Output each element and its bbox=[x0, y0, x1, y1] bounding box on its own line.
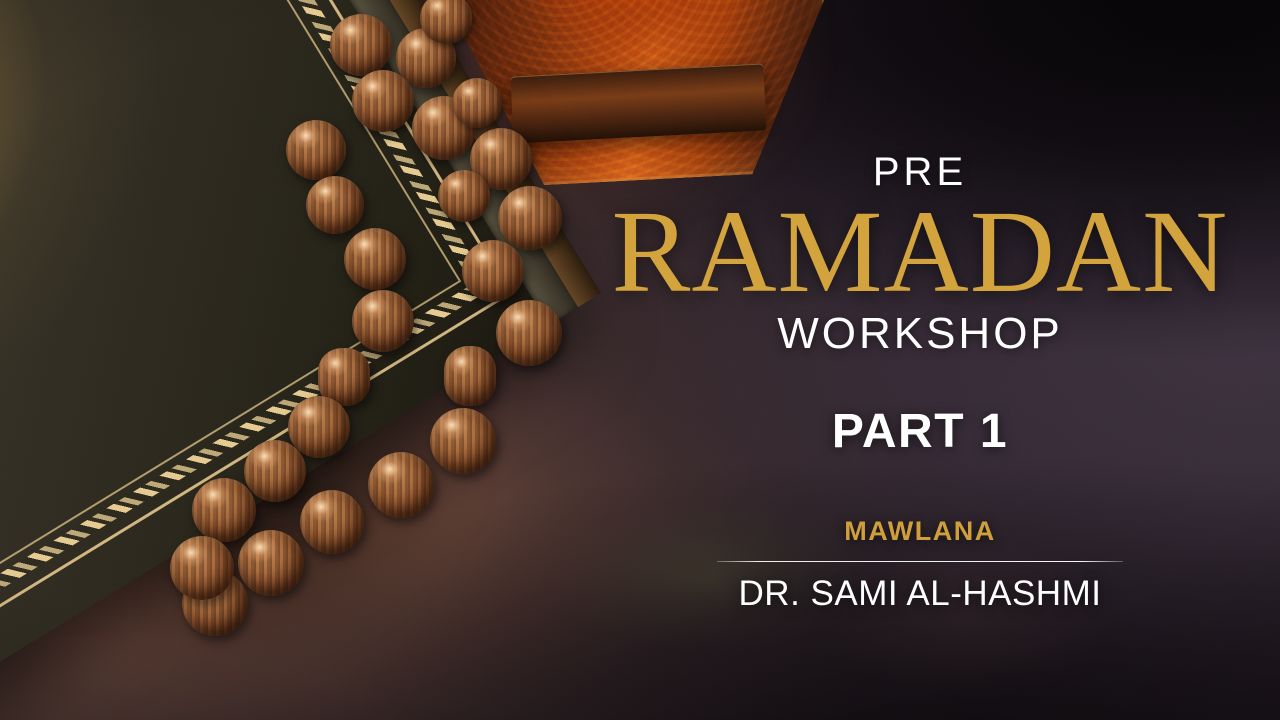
speaker-divider bbox=[717, 561, 1123, 562]
speaker-name: DR. SAMI AL-HASHMI bbox=[590, 576, 1250, 611]
poster-text-block: PRE RAMADAN WORKSHOP PART 1 MAWLANA DR. … bbox=[590, 130, 1250, 611]
speaker-honorific: MAWLANA bbox=[590, 518, 1250, 545]
title-workshop: WORKSHOP bbox=[590, 312, 1250, 356]
title-ramadan: RAMADAN bbox=[590, 194, 1250, 310]
part-label: PART 1 bbox=[590, 408, 1250, 456]
ramadan-workshop-poster: PRE RAMADAN WORKSHOP PART 1 MAWLANA DR. … bbox=[0, 0, 1280, 720]
